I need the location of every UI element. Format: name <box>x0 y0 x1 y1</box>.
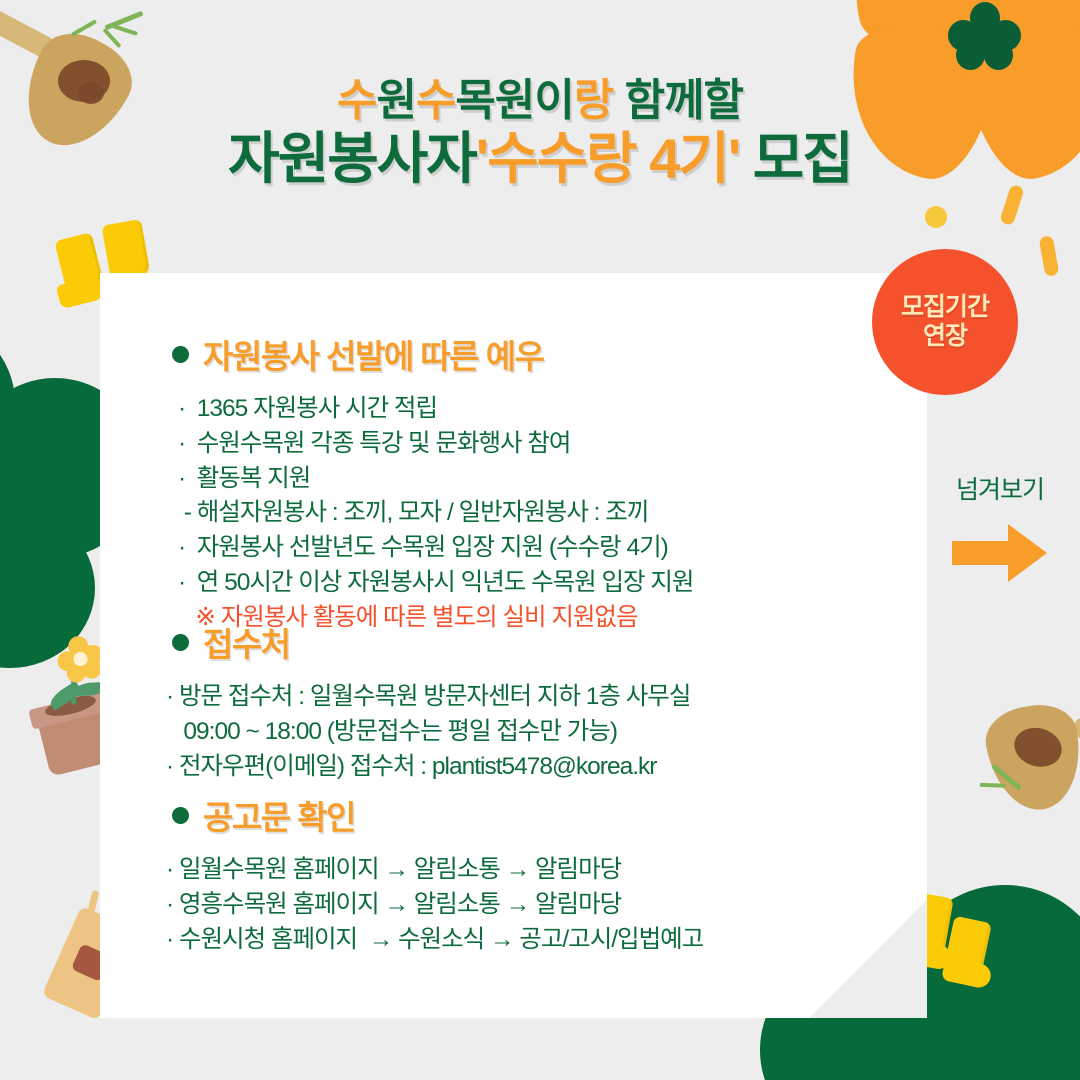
list-item: · 수원수목원 각종 특강 및 문화행사 참여 <box>178 427 927 462</box>
list-item: 09:00 ~ 18:00 (방문접수는 평일 접수만 가능) <box>166 715 927 750</box>
title-seg: 수 <box>337 76 376 125</box>
bullet-icon <box>172 634 189 651</box>
flip-hint-label: 넘겨보기 <box>930 470 1070 506</box>
section-benefits: 자원봉사 선발에 따른 예우 · 1365 자원봉사 시간 적립 · 수원수목원… <box>100 330 927 635</box>
section-lines: · 방문 접수처 : 일월수목원 방문자센터 지하 1층 사무실 09:00 ~… <box>100 680 927 784</box>
list-item: · 일월수목원 홈페이지 → 알림소통 → 알림마당 <box>166 853 927 888</box>
title-seg: '수수랑 4기' <box>476 127 739 190</box>
poster-title: 수원수목원이랑 함께할 자원봉사자'수수랑 4기' 모집 <box>0 78 1080 191</box>
bullet-icon <box>172 346 189 363</box>
list-item: - 해설자원봉사 : 조끼, 모자 / 일반자원봉사 : 조끼 <box>178 496 927 531</box>
arrow-right-icon[interactable] <box>930 522 1070 584</box>
title-line-1: 수원수목원이랑 함께할 <box>0 78 1080 124</box>
card-content: 자원봉사 선발에 따른 예우 · 1365 자원봉사 시간 적립 · 수원수목원… <box>100 273 927 1018</box>
section-title: 접수처 <box>203 618 290 666</box>
trowel-icon <box>969 679 1080 860</box>
flip-hint: 넘겨보기 <box>930 470 1070 584</box>
section-lines: · 1365 자원봉사 시간 적립 · 수원수목원 각종 특강 및 문화행사 참… <box>100 392 927 635</box>
title-seg: 자원봉사자 <box>228 127 476 190</box>
section-header: 자원봉사 선발에 따른 예우 <box>100 330 927 378</box>
orange-dash-icon <box>1039 235 1060 277</box>
title-seg: 모집 <box>739 127 852 190</box>
section-header: 공고문 확인 <box>100 791 927 839</box>
title-seg: 목원이 <box>455 76 573 125</box>
title-line-2: 자원봉사자'수수랑 4기' 모집 <box>0 128 1080 191</box>
section-application: 접수처 · 방문 접수처 : 일월수목원 방문자센터 지하 1층 사무실 09:… <box>100 618 927 784</box>
section-title: 자원봉사 선발에 따른 예우 <box>203 330 543 378</box>
list-item: · 전자우편(이메일) 접수처 : plantist5478@korea.kr <box>166 750 927 785</box>
title-seg: 원 <box>376 76 415 125</box>
section-title: 공고문 확인 <box>203 791 355 839</box>
bullet-icon <box>172 807 189 824</box>
list-item: · 수원시청 홈페이지 → 수원소식 → 공고/고시/입법예고 <box>166 923 927 958</box>
title-seg: 함께할 <box>613 76 743 125</box>
list-item: · 1365 자원봉사 시간 적립 <box>178 392 927 427</box>
list-item: · 방문 접수처 : 일월수목원 방문자센터 지하 1층 사무실 <box>166 680 927 715</box>
list-item: · 영흥수목원 홈페이지 → 알림소통 → 알림마당 <box>166 888 927 923</box>
title-seg: 랑 <box>574 76 613 125</box>
list-item: · 활동복 지원 <box>178 462 927 497</box>
section-lines: · 일월수목원 홈페이지 → 알림소통 → 알림마당 · 영흥수목원 홈페이지 … <box>100 853 927 957</box>
section-notice: 공고문 확인 · 일월수목원 홈페이지 → 알림소통 → 알림마당 · 영흥수목… <box>100 791 927 957</box>
list-item: · 연 50시간 이상 자원봉사시 익년도 수목원 입장 지원 <box>178 566 927 601</box>
list-item: · 자원봉사 선발년도 수목원 입장 지원 (수수랑 4기) <box>178 531 927 566</box>
section-header: 접수처 <box>100 618 927 666</box>
badge-line-2: 연장 <box>923 322 967 352</box>
orange-dot-icon <box>925 206 947 228</box>
poster-canvas: 수원수목원이랑 함께할 자원봉사자'수수랑 4기' 모집 모집기간 연장 넘겨보… <box>0 0 1080 1080</box>
title-seg: 수 <box>416 76 455 125</box>
